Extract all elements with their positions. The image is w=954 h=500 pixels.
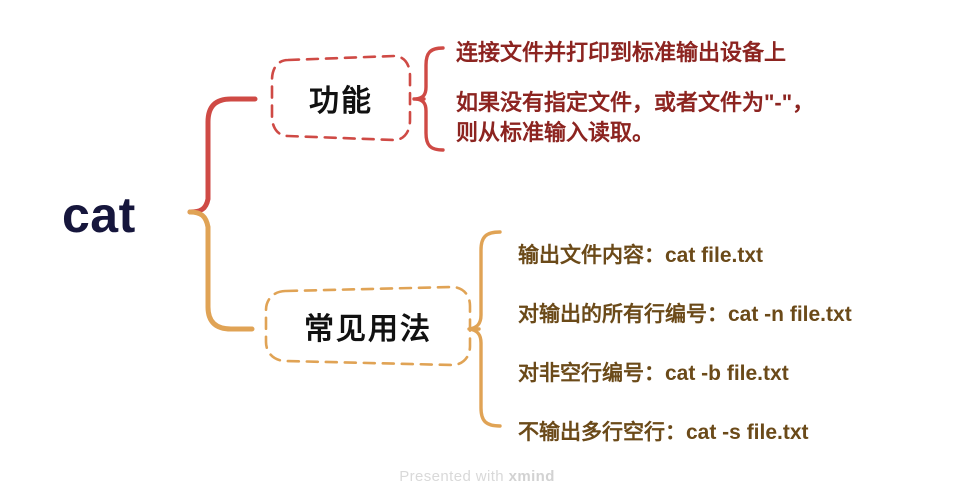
function-leaf-list: 连接文件并打印到标准输出设备上 如果没有指定文件，或者文件为"-"， 则从标准输…: [456, 38, 876, 148]
list-item[interactable]: 不输出多行空行：cat -s file.txt: [518, 403, 948, 462]
branch-node-function[interactable]: 功能: [268, 52, 414, 144]
usage-leaf-text: 不输出多行空行：cat -s file.txt: [518, 419, 809, 447]
trunk-branch-function: [190, 99, 255, 212]
list-item[interactable]: 对非空行编号：cat -b file.txt: [518, 344, 948, 403]
branch-node-function-label: 功能: [309, 76, 373, 120]
mindmap-canvas: cat 功能 常见用法 连接文件并打印到标准输出设备上 如果没有指定文件，或者文…: [0, 0, 954, 500]
watermark-brand: xmind: [509, 468, 555, 485]
watermark-prefix: Presented with: [399, 468, 508, 485]
list-item[interactable]: 连接文件并打印到标准输出设备上: [456, 38, 876, 68]
function-leaf-text: 如果没有指定文件，或者文件为"-"，: [456, 88, 876, 118]
function-leaf-text: 则从标准输入读取。: [456, 118, 876, 148]
usage-leaf-text: 对非空行编号：cat -b file.txt: [518, 360, 789, 388]
usage-leaf-list: 输出文件内容：cat file.txt 对输出的所有行编号：cat -n fil…: [518, 226, 948, 462]
function-leaf-text: 连接文件并打印到标准输出设备上: [456, 38, 876, 68]
root-topic[interactable]: cat: [62, 182, 192, 248]
brace-function: [416, 48, 443, 150]
usage-leaf-text: 输出文件内容：cat file.txt: [518, 242, 763, 270]
branch-node-usage[interactable]: 常见用法: [262, 284, 474, 368]
trunk-branch-usage: [190, 212, 252, 329]
list-item[interactable]: 输出文件内容：cat file.txt: [518, 226, 948, 285]
branch-node-usage-label: 常见用法: [304, 304, 432, 348]
root-topic-label: cat: [62, 190, 136, 240]
list-item[interactable]: 如果没有指定文件，或者文件为"-"， 则从标准输入读取。: [456, 88, 876, 148]
watermark: Presented with xmind: [0, 468, 954, 485]
list-item[interactable]: 对输出的所有行编号：cat -n file.txt: [518, 285, 948, 344]
usage-leaf-text: 对输出的所有行编号：cat -n file.txt: [518, 301, 852, 329]
